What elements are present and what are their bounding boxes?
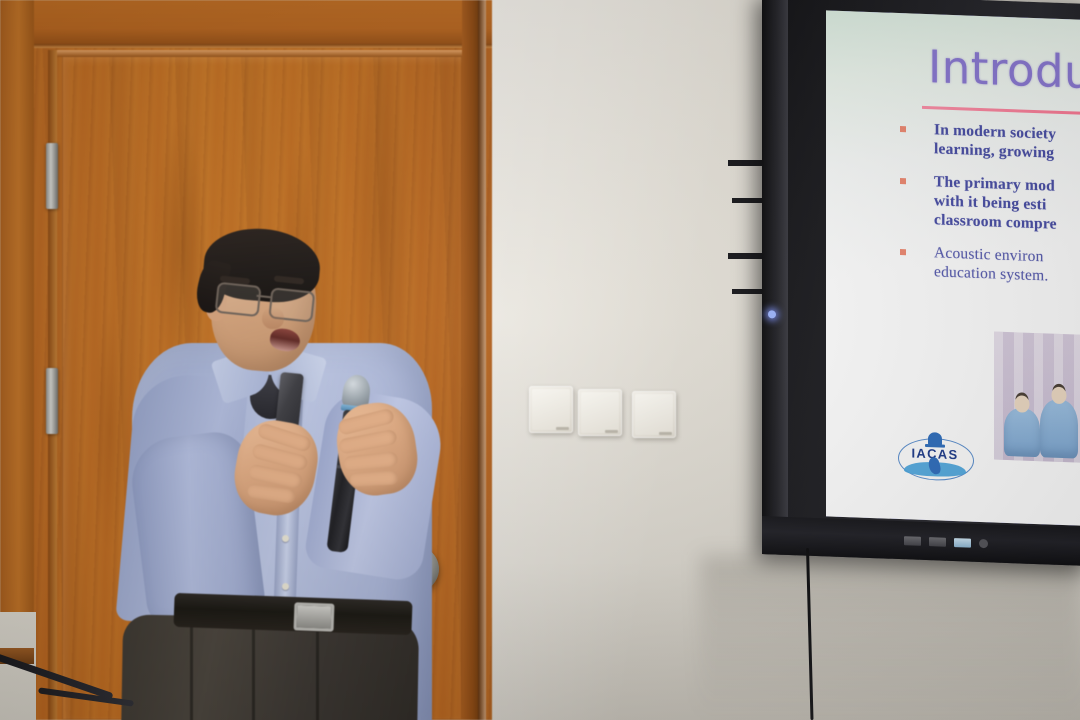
list-item: Acoustic environ education system.: [900, 242, 1080, 290]
switch-brand-mark: [605, 430, 618, 433]
light-switch-1[interactable]: [529, 386, 573, 433]
door-top-rail: [0, 0, 492, 48]
trouser-pleat: [252, 623, 255, 720]
list-item: In modern society learning, growing: [900, 119, 1080, 167]
bullet-text: The primary mod with it being esti class…: [934, 172, 1080, 238]
switch-plate: [581, 392, 619, 433]
iacas-logo: IACAS: [898, 431, 972, 482]
door-frame-gap: [478, 0, 486, 720]
figure-head: [1052, 387, 1067, 405]
bullet-text: Acoustic environ education system.: [934, 243, 1080, 290]
switch-plate: [635, 394, 673, 435]
figure-head: [1015, 395, 1030, 413]
power-button[interactable]: [904, 536, 921, 546]
bullet-text: In modern society learning, growing: [934, 120, 1080, 167]
shirt-button: [282, 583, 289, 590]
display-control-buttons[interactable]: [904, 536, 988, 548]
trouser-pleat: [316, 623, 319, 720]
bullet-square-icon: [900, 178, 906, 184]
belt-buckle: [294, 602, 335, 631]
finger: [350, 470, 399, 486]
slide-title: Introductio: [928, 40, 1080, 102]
power-led-icon: [768, 310, 776, 318]
illustration-figure: [1004, 408, 1040, 457]
bullet-square-icon: [900, 249, 906, 255]
door-hinge-lower: [46, 368, 58, 434]
volume-button[interactable]: [979, 539, 988, 548]
shirt-button: [282, 535, 289, 542]
presentation-slide: Introductio In modern society learning, …: [826, 10, 1080, 527]
finger: [343, 451, 398, 472]
switch-brand-mark: [556, 427, 569, 430]
slide-illustration: [994, 332, 1080, 466]
presenter-nose: [262, 307, 284, 329]
menu-button[interactable]: [929, 537, 946, 547]
flat-panel-display[interactable]: Introductio In modern society learning, …: [762, 0, 1080, 566]
presenter: [120, 225, 460, 720]
light-switch-2[interactable]: [578, 389, 622, 436]
display-bezel-left: [762, 0, 788, 555]
bullet-square-icon: [900, 126, 906, 132]
switch-brand-mark: [659, 432, 672, 435]
display-wall-shadow: [700, 555, 1080, 720]
slide-bullet-list: In modern society learning, growing The …: [900, 119, 1080, 304]
slide-title-rule: [922, 106, 1080, 119]
switch-plate: [532, 389, 570, 430]
trouser-pleat: [190, 623, 193, 720]
glasses-lens-left: [215, 282, 262, 317]
door-hinge-upper: [46, 143, 58, 209]
source-button[interactable]: [954, 538, 971, 548]
light-switch-3[interactable]: [632, 391, 676, 438]
list-item: The primary mod with it being esti class…: [900, 171, 1080, 238]
presentation-photo-scene: Introductio In modern society learning, …: [0, 0, 1080, 720]
bell-icon: [928, 432, 942, 446]
illustration-figure: [1040, 399, 1078, 458]
display-screen[interactable]: Introductio In modern society learning, …: [826, 10, 1080, 527]
